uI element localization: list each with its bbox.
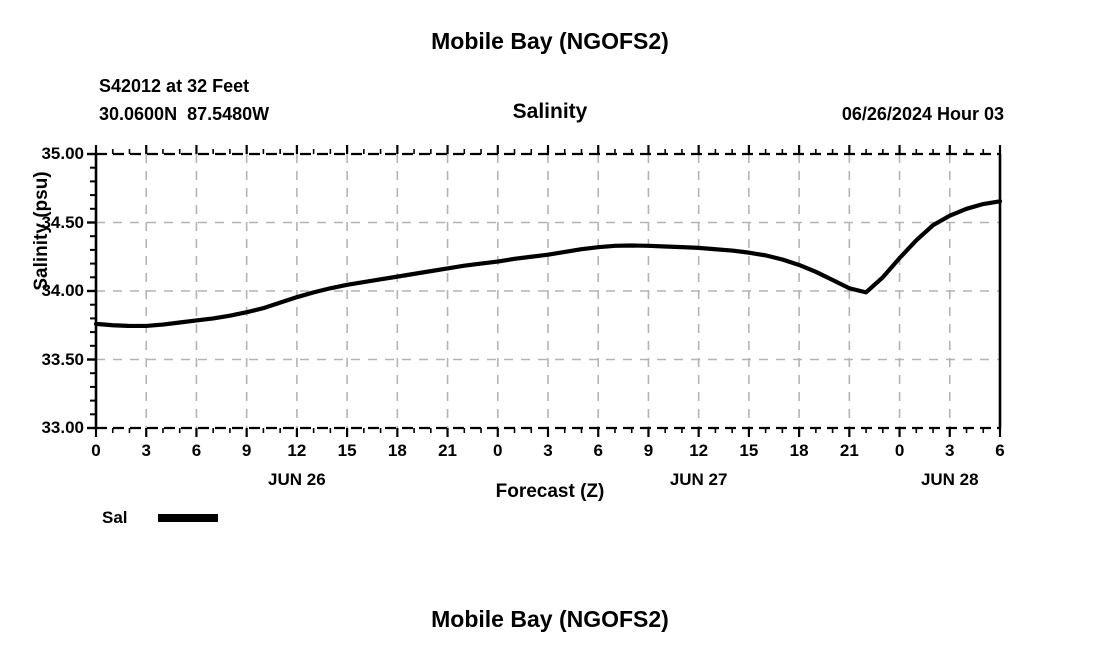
x-axis-tick-label: 21: [428, 441, 468, 461]
x-axis-tick-label: 21: [829, 441, 869, 461]
y-axis-tick-label: 34.00: [14, 281, 84, 301]
salinity-line-chart: [0, 0, 1100, 650]
x-axis-tick-label: 3: [528, 441, 568, 461]
x-axis-tick-label: 0: [478, 441, 518, 461]
x-axis-tick-label: 15: [729, 441, 769, 461]
plot-area: Salinity (psu) Forecast (Z) 35.0034.5034…: [0, 0, 1100, 650]
y-axis-tick-label: 33.00: [14, 418, 84, 438]
x-axis-tick-label: 9: [227, 441, 267, 461]
x-axis-tick-label: 12: [277, 441, 317, 461]
legend-swatch-sal: [158, 514, 218, 522]
x-axis-tick-label: 15: [327, 441, 367, 461]
x-axis-tick-label: 6: [578, 441, 618, 461]
x-axis-tick-label: 6: [980, 441, 1020, 461]
y-axis-tick-label: 35.00: [14, 144, 84, 164]
y-axis-tick-label: 34.50: [14, 213, 84, 233]
x-axis-tick-label: 6: [176, 441, 216, 461]
x-axis-tick-label: 0: [880, 441, 920, 461]
x-axis-day-label: JUN 28: [880, 470, 1020, 490]
x-axis-tick-label: 3: [126, 441, 166, 461]
x-axis-tick-label: 0: [76, 441, 116, 461]
footer-title: Mobile Bay (NGOFS2): [0, 606, 1100, 633]
x-axis-tick-label: 18: [377, 441, 417, 461]
x-axis-tick-label: 12: [679, 441, 719, 461]
chart-page: Mobile Bay (NGOFS2) S42012 at 32 Feet 30…: [0, 0, 1100, 650]
y-axis-tick-label: 33.50: [14, 350, 84, 370]
x-axis-tick-label: 3: [930, 441, 970, 461]
x-axis-day-label: JUN 26: [227, 470, 367, 490]
x-axis-tick-label: 9: [628, 441, 668, 461]
legend-label-sal: Sal: [102, 508, 128, 528]
x-axis-day-label: JUN 27: [629, 470, 769, 490]
x-axis-tick-label: 18: [779, 441, 819, 461]
chart-legend: Sal: [102, 508, 218, 528]
